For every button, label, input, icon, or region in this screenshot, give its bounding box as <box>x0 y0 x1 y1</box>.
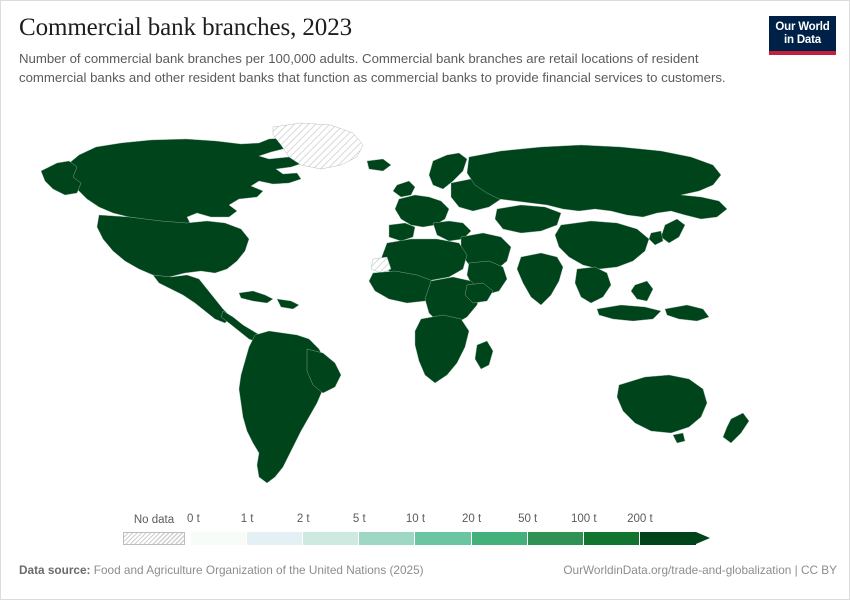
footer-data-source-label: Data source: <box>19 563 90 577</box>
legend-tick-4: 10 t <box>406 513 425 525</box>
country-new-guinea[interactable] <box>665 305 709 321</box>
legend-tick-0: 0 t <box>187 513 200 525</box>
country-usa[interactable] <box>97 215 249 277</box>
legend-color-bar-wrap[interactable] <box>191 532 731 545</box>
legend-arrow-cap <box>696 532 710 544</box>
legend-tick-3: 5 t <box>353 513 366 525</box>
country-central-asia[interactable] <box>495 205 561 233</box>
owid-logo[interactable]: Our World in Data <box>769 16 836 55</box>
country-southeast-asia[interactable] <box>575 267 611 303</box>
legend-bin-3[interactable] <box>359 532 415 545</box>
legend-scale[interactable]: 0 t1 t2 t5 t10 t20 t50 t100 t200 t <box>191 513 731 545</box>
page-title: Commercial bank branches, 2023 <box>19 13 759 43</box>
country-indonesia[interactable] <box>597 305 661 321</box>
country-british-isles[interactable] <box>393 181 415 197</box>
owid-logo-line-1: Our World <box>769 21 836 34</box>
footer-data-source-value: Food and Agriculture Organization of the… <box>94 563 424 577</box>
chart-footer: Data source: Food and Agriculture Organi… <box>1 563 850 585</box>
country-japan[interactable] <box>661 219 685 243</box>
country-china[interactable] <box>555 221 649 269</box>
legend-tick-8: 200 t <box>627 513 653 525</box>
country-cuba-hispaniola[interactable] <box>277 299 299 309</box>
legend-bin-8[interactable] <box>640 532 696 545</box>
country-new-zealand[interactable] <box>723 413 749 443</box>
country-madagascar[interactable] <box>475 341 493 369</box>
country-australia[interactable] <box>617 375 707 433</box>
chart-subtitle: Number of commercial bank branches per 1… <box>19 50 733 87</box>
legend-no-data-label: No data <box>123 513 185 527</box>
legend-tick-labels: 0 t1 t2 t5 t10 t20 t50 t100 t200 t <box>191 513 731 527</box>
country-tasmania[interactable] <box>673 433 685 443</box>
legend-bin-5[interactable] <box>472 532 528 545</box>
legend-tick-5: 20 t <box>462 513 481 525</box>
country-iberia[interactable] <box>389 223 415 241</box>
chart-frame: Commercial bank branches, 2023 Number of… <box>0 0 850 600</box>
legend-bin-7[interactable] <box>584 532 640 545</box>
world-map[interactable] <box>1 113 850 503</box>
legend-tick-1: 1 t <box>241 513 254 525</box>
legend-bin-4[interactable] <box>415 532 471 545</box>
legend-bin-0[interactable] <box>191 532 247 545</box>
country-western-sahara[interactable] <box>371 257 391 273</box>
country-korea[interactable] <box>649 231 663 245</box>
country-mexico[interactable] <box>153 275 231 323</box>
chart-header: Commercial bank branches, 2023 Number of… <box>19 13 759 87</box>
country-caribbean[interactable] <box>239 291 273 303</box>
footer-link[interactable]: OurWorldinData.org/trade-and-globalizati… <box>563 563 837 577</box>
legend-color-bar[interactable] <box>191 532 696 545</box>
country-shapes[interactable] <box>41 123 749 483</box>
legend-tick-7: 100 t <box>571 513 597 525</box>
map-legend[interactable]: No data 0 t1 t2 t5 t10 t20 t50 t100 t200… <box>1 506 850 556</box>
footer-data-source: Data source: Food and Agriculture Organi… <box>19 563 424 577</box>
legend-bin-6[interactable] <box>528 532 584 545</box>
legend-bin-2[interactable] <box>303 532 359 545</box>
owid-logo-line-2: in Data <box>769 34 836 47</box>
country-iceland[interactable] <box>367 159 391 171</box>
country-india[interactable] <box>517 253 563 305</box>
legend-tick-2: 2 t <box>297 513 310 525</box>
country-philippines[interactable] <box>631 281 653 301</box>
legend-no-data[interactable]: No data <box>123 513 185 545</box>
legend-tick-6: 50 t <box>518 513 537 525</box>
legend-bin-1[interactable] <box>247 532 303 545</box>
legend-no-data-swatch <box>123 532 185 545</box>
world-map-container[interactable] <box>1 113 850 503</box>
country-southern-africa[interactable] <box>415 315 469 383</box>
